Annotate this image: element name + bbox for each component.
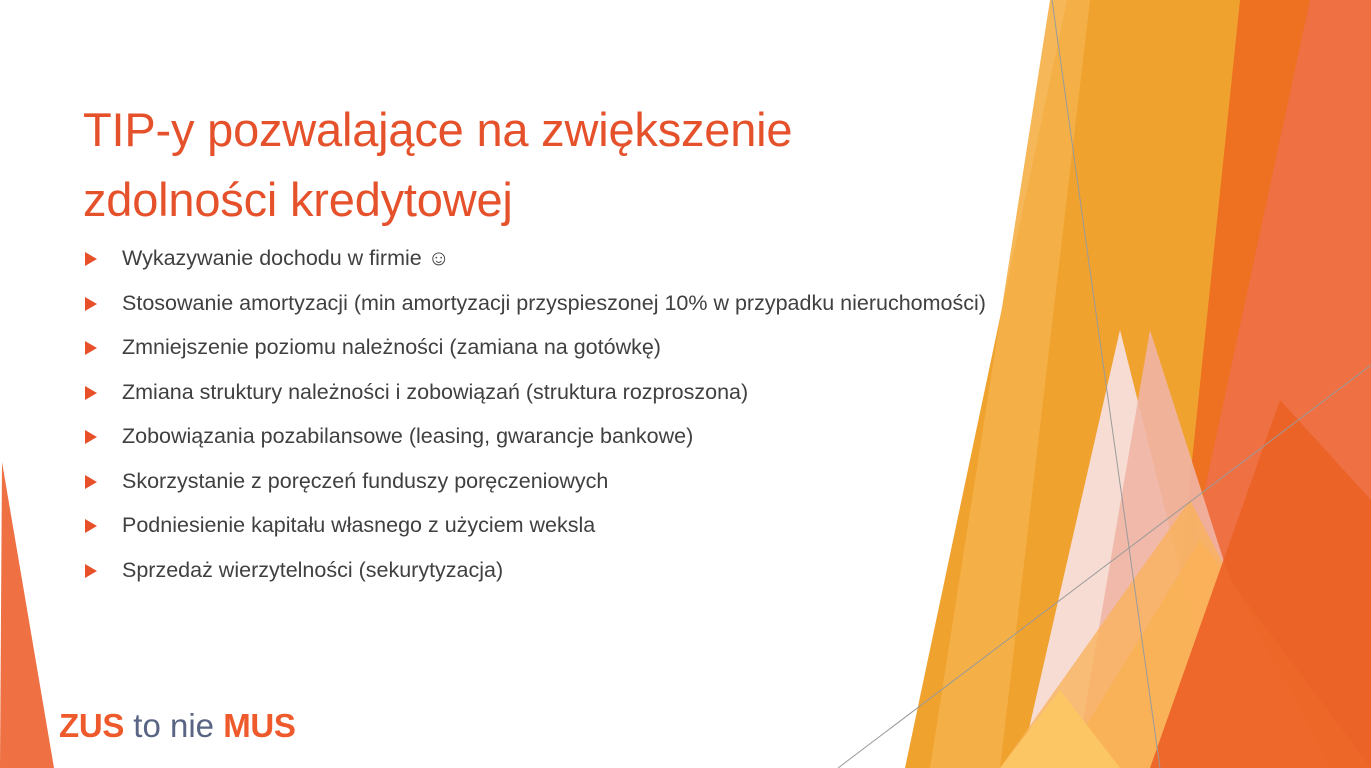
deco-hairline-a <box>1052 0 1160 768</box>
list-item: Wykazywanie dochodu w firmie ☺ <box>83 243 1013 274</box>
deco-shape-orange-soft <box>1145 0 1371 768</box>
deco-shape-orange-band <box>1000 500 1330 768</box>
list-item-label: Podniesienie kapitału własnego z użyciem… <box>122 510 1013 541</box>
list-item: Sprzedaż wierzytelności (sekurytyzacja) <box>83 555 1013 586</box>
deco-shape-orange-deep <box>1046 0 1371 768</box>
list-item: Podniesienie kapitału własnego z użyciem… <box>83 510 1013 541</box>
list-item-label: Sprzedaż wierzytelności (sekurytyzacja) <box>122 555 1013 586</box>
logo-zus: ZUS <box>59 707 124 744</box>
logo-tonie: to nie <box>124 707 223 744</box>
list-item: Stosowanie amortyzacji (min amortyzacji … <box>83 288 1013 319</box>
list-item: Skorzystanie z poręczeń funduszy poręcze… <box>83 466 1013 497</box>
deco-shape-yellow <box>1000 690 1120 768</box>
deco-shape-orange-pale <box>1060 540 1371 768</box>
slide: TIP-y pozwalające na zwiększenie zdolnoś… <box>0 0 1371 768</box>
triangle-right-icon <box>83 421 122 445</box>
triangle-right-icon <box>83 466 122 490</box>
list-item: Zmniejszenie poziomu należności (zamiana… <box>83 332 1013 363</box>
deco-shape-pink-light <box>1020 330 1230 768</box>
triangle-right-icon <box>83 332 122 356</box>
triangle-right-icon <box>83 555 122 579</box>
logo-mus: MUS <box>223 707 295 744</box>
page-title: TIP-y pozwalające na zwiększenie zdolnoś… <box>83 95 913 234</box>
deco-shape-orange-lower <box>1150 400 1371 768</box>
list-item-label: Wykazywanie dochodu w firmie ☺ <box>122 243 1013 274</box>
list-item-label: Stosowanie amortyzacji (min amortyzacji … <box>122 288 1013 319</box>
list-item-label: Zobowiązania pozabilansowe (leasing, gwa… <box>122 421 1013 452</box>
list-item-label: Skorzystanie z poręczeń funduszy poręcze… <box>122 466 1013 497</box>
list-item-label: Zmniejszenie poziomu należności (zamiana… <box>122 332 1013 363</box>
triangle-right-icon <box>83 377 122 401</box>
list-item-label: Zmiana struktury należności i zobowiązań… <box>122 377 1013 408</box>
triangle-right-icon <box>83 243 122 267</box>
deco-shape-left-wedge <box>0 462 54 768</box>
bullet-list: Wykazywanie dochodu w firmie ☺ Stosowani… <box>83 243 1013 599</box>
list-item: Zobowiązania pozabilansowe (leasing, gwa… <box>83 421 1013 452</box>
triangle-right-icon <box>83 510 122 534</box>
list-item: Zmiana struktury należności i zobowiązań… <box>83 377 1013 408</box>
triangle-right-icon <box>83 288 122 312</box>
deco-shape-pink <box>1075 330 1290 768</box>
brand-logo: ZUS to nie MUS <box>59 707 296 745</box>
